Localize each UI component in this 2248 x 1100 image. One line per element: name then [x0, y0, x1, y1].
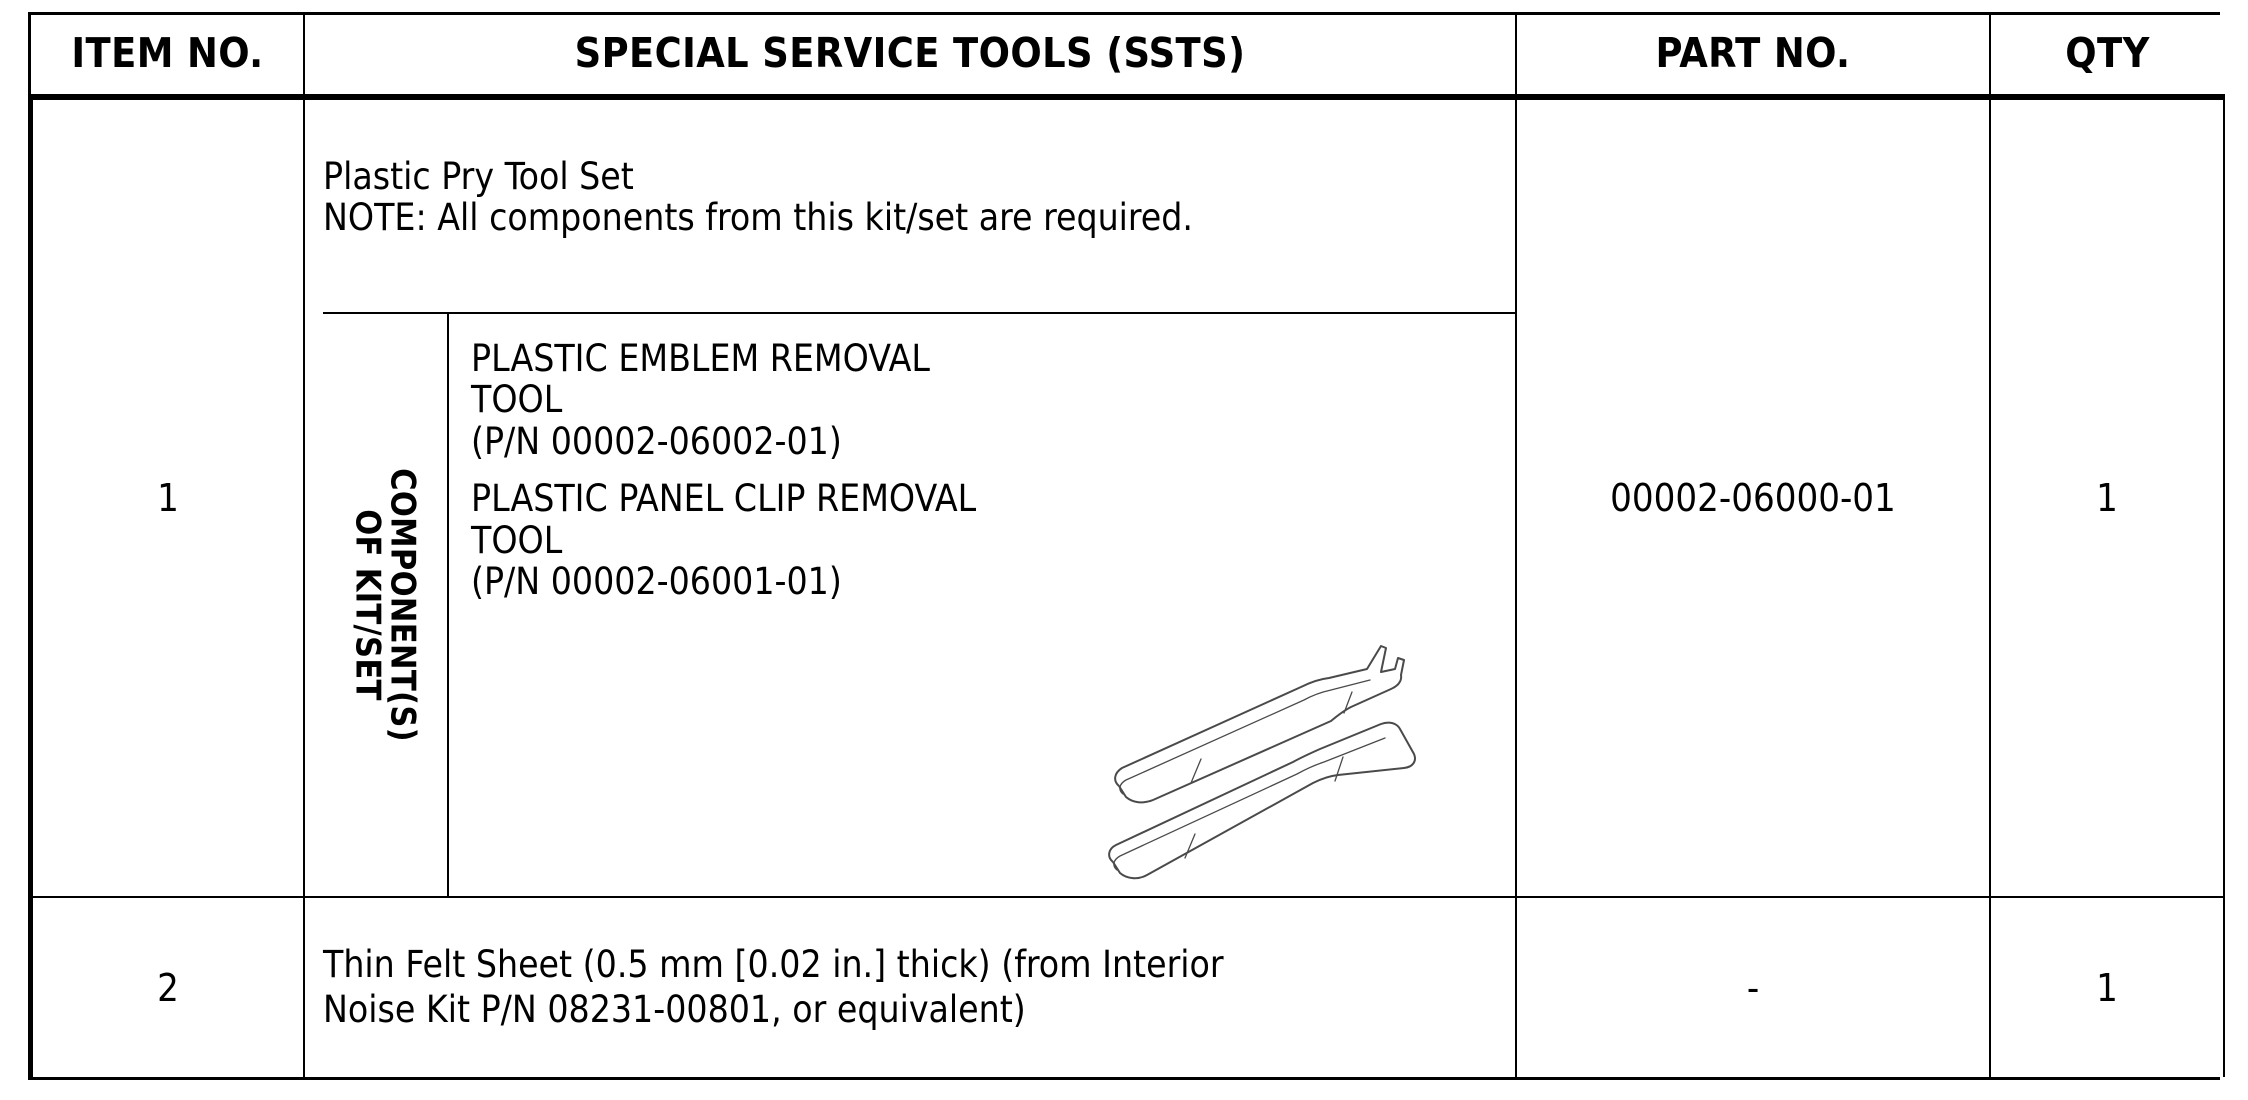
component-2-name-line-2: TOOL	[471, 520, 1151, 561]
row-2-description-cell: Thin Felt Sheet (0.5 mm [0.02 in.] thick…	[304, 897, 1516, 1077]
kit-name: Plastic Pry Tool Set	[323, 156, 1515, 197]
column-header-item-no: ITEM NO.	[32, 15, 304, 97]
sst-table-grid: ITEM NO. SPECIAL SERVICE TOOLS (SSTS) PA…	[31, 15, 2225, 1077]
components-of-kit-label: COMPONENT(S) OF KIT/SET	[350, 468, 419, 742]
kit-note: NOTE: All components from this kit/set a…	[323, 197, 1515, 238]
special-service-tools-table: ITEM NO. SPECIAL SERVICE TOOLS (SSTS) PA…	[28, 12, 2220, 1080]
kit-title-block: Plastic Pry Tool Set NOTE: All component…	[305, 100, 1515, 312]
component-2-name-line-1: PLASTIC PANEL CLIP REMOVAL	[471, 478, 1151, 519]
list-item: PLASTIC PANEL CLIP REMOVAL TOOL (P/N 000…	[471, 478, 1151, 602]
column-header-part-no: PART NO.	[1516, 15, 1990, 97]
component-1-part-no: (P/N 00002-06002-01)	[471, 421, 1151, 462]
felt-sheet-description-line-2: Noise Kit P/N 08231-00801, or equivalent…	[323, 988, 1495, 1032]
row-1-qty: 1	[1990, 97, 2224, 897]
components-label-line-2: OF KIT/SET	[350, 468, 385, 742]
felt-sheet-description: Thin Felt Sheet (0.5 mm [0.02 in.] thick…	[323, 943, 1495, 1032]
list-item: PLASTIC EMBLEM REMOVAL TOOL (P/N 00002-0…	[471, 338, 1151, 462]
row-1-part-no: 00002-06000-01	[1516, 97, 1990, 897]
components-label-line-1: COMPONENT(S)	[385, 468, 420, 742]
column-header-special-service-tools: SPECIAL SERVICE TOOLS (SSTS)	[304, 15, 1516, 97]
row-1-description-cell: Plastic Pry Tool Set NOTE: All component…	[304, 97, 1516, 897]
pry-tool-pair-illustration	[1105, 634, 1505, 884]
felt-sheet-description-line-1: Thin Felt Sheet (0.5 mm [0.02 in.] thick…	[323, 943, 1495, 987]
row-2-qty: 1	[1990, 897, 2224, 1077]
components-subtable: COMPONENT(S) OF KIT/SET PLASTIC EMBLEM R…	[323, 312, 1515, 896]
row-1-item-no: 1	[32, 97, 304, 897]
table-row: 1 Plastic Pry Tool Set NOTE: All compone…	[32, 97, 2224, 897]
component-2-part-no: (P/N 00002-06001-01)	[471, 561, 1151, 602]
table-header-row: ITEM NO. SPECIAL SERVICE TOOLS (SSTS) PA…	[32, 15, 2224, 97]
row-2-item-no: 2	[32, 897, 304, 1077]
components-of-kit-label-cell: COMPONENT(S) OF KIT/SET	[323, 314, 449, 896]
table-row: 2 Thin Felt Sheet (0.5 mm [0.02 in.] thi…	[32, 897, 2224, 1077]
column-header-qty: QTY	[1990, 15, 2224, 97]
component-1-name-line-1: PLASTIC EMBLEM REMOVAL	[471, 338, 1151, 379]
components-list: PLASTIC EMBLEM REMOVAL TOOL (P/N 00002-0…	[449, 314, 1515, 896]
component-1-name-line-2: TOOL	[471, 379, 1151, 420]
row-2-part-no: -	[1516, 897, 1990, 1077]
